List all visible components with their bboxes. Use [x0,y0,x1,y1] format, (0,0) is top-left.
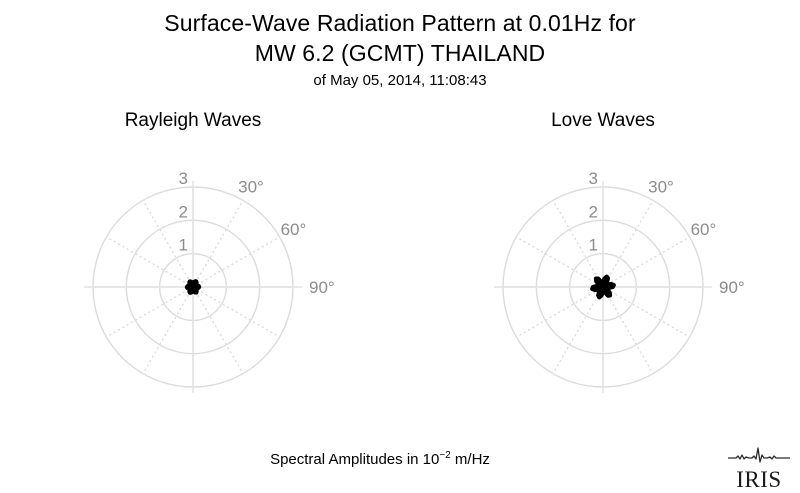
polar-grid-rayleigh: 123 30°60°90° [43,139,343,419]
footer-caption-suffix: m/Hz [451,451,490,468]
iris-logo: IRIS [726,446,792,488]
polar-plot-rayleigh: Rayleigh Waves 123 30°60°90° [43,110,343,420]
svg-text:3: 3 [589,169,598,188]
page-subtitle: of May 05, 2014, 11:08:43 [0,70,800,92]
polar-plot-love-title: Love Waves [453,110,753,132]
polar-plot-rayleigh-canvas: 123 30°60°90° [43,139,343,419]
polar-plot-love-canvas: 123 30°60°90° [453,139,753,419]
svg-text:90°: 90° [719,278,745,297]
title-block: Surface-Wave Radiation Pattern at 0.01Hz… [0,8,800,92]
iris-wordmark: IRIS [726,468,792,491]
footer-caption-exponent: −2 [439,450,450,461]
svg-text:2: 2 [179,202,188,221]
svg-text:1: 1 [589,236,598,255]
svg-text:3: 3 [179,169,188,188]
radial-tick-labels-rayleigh: 123 [179,169,188,255]
svg-text:60°: 60° [691,220,717,239]
radiation-pattern-rayleigh [186,281,199,294]
polar-grid-love: 123 30°60°90° [453,139,753,419]
angle-labels-love: 30°60°90° [648,178,745,297]
footer-caption: Spectral Amplitudes in 10−2 m/Hz [0,450,760,468]
polar-plot-love: Love Waves 123 30°60°90° [453,110,753,420]
radial-tick-labels-love: 123 [589,169,598,255]
svg-text:30°: 30° [648,178,674,197]
seismogram-icon [726,446,792,464]
svg-text:60°: 60° [281,220,307,239]
footer-caption-prefix: Spectral Amplitudes in 10 [270,451,439,468]
page-title-line-1: Surface-Wave Radiation Pattern at 0.01Hz… [0,8,800,38]
svg-text:1: 1 [179,236,188,255]
svg-text:30°: 30° [238,178,264,197]
radiation-pattern-love [592,277,614,298]
page-title-line-2: MW 6.2 (GCMT) THAILAND [0,38,800,68]
angle-labels-rayleigh: 30°60°90° [238,178,335,297]
svg-text:2: 2 [589,202,598,221]
polar-plot-rayleigh-title: Rayleigh Waves [43,110,343,132]
svg-text:90°: 90° [309,278,335,297]
